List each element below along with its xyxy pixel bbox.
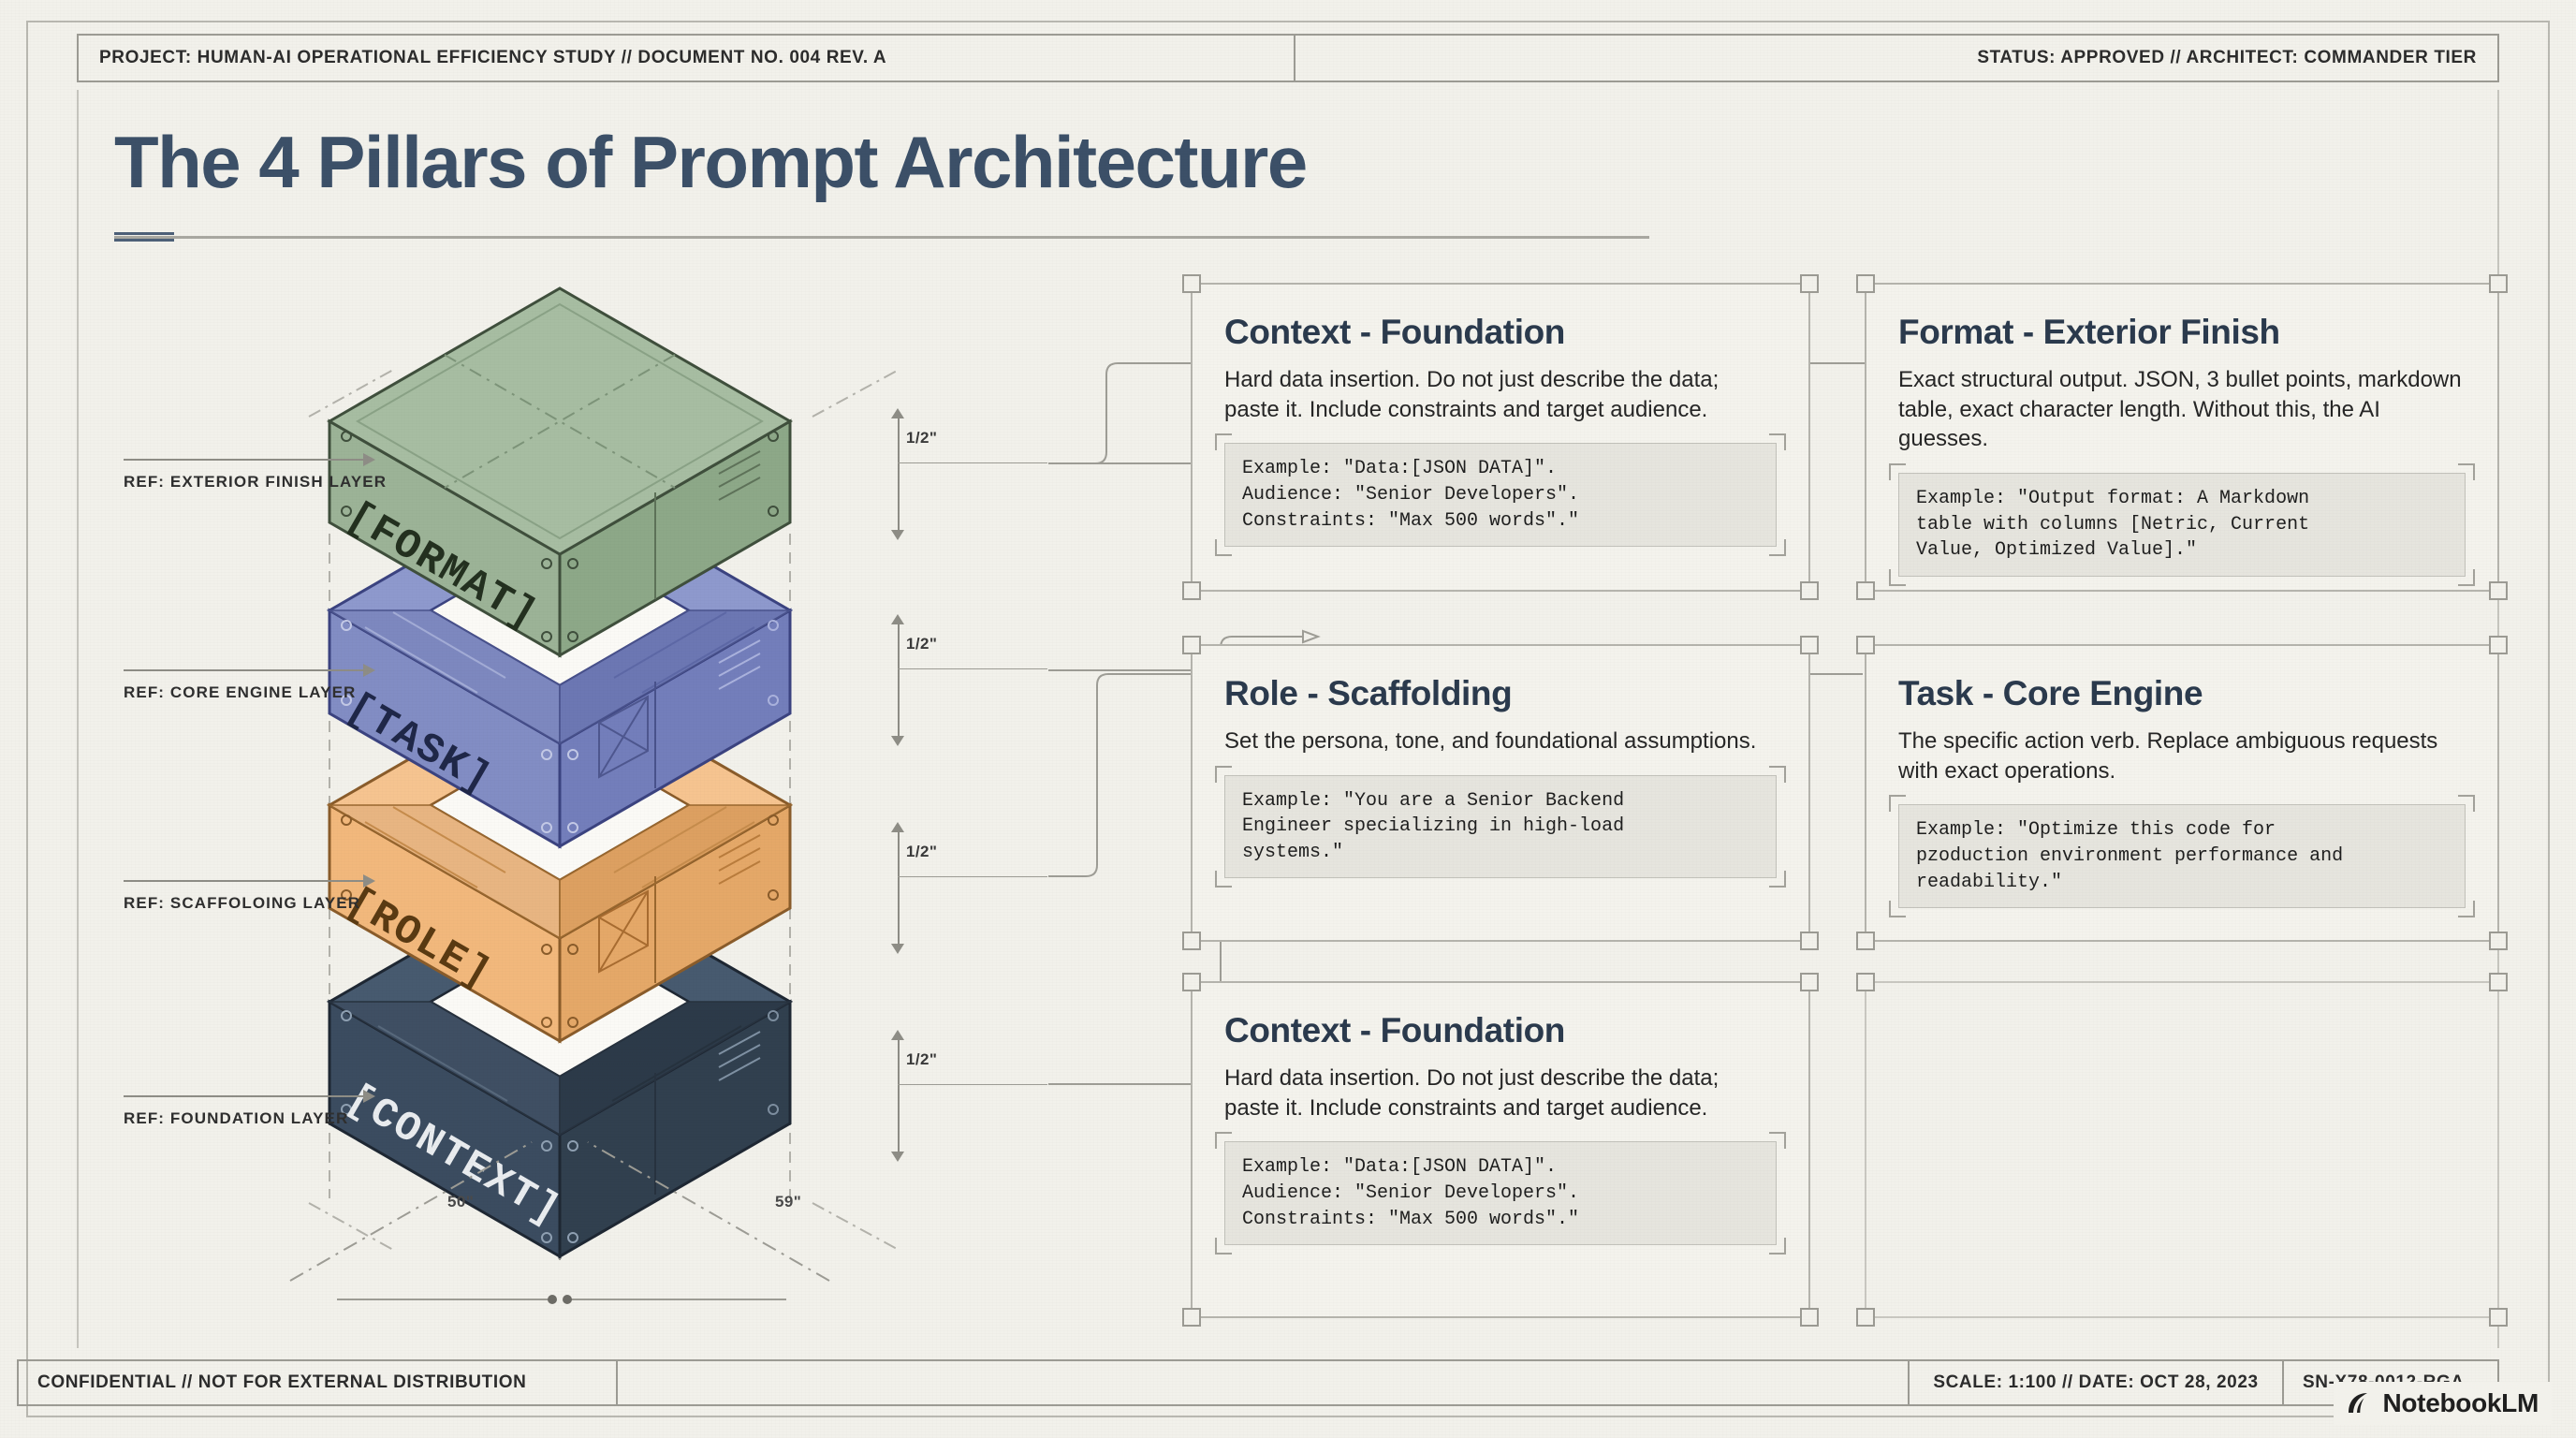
dim-ext-1 [898, 462, 1047, 463]
code-tick-bl [1889, 901, 1906, 917]
dim-line-3 [898, 828, 900, 951]
corner-marker-tl [1182, 636, 1201, 654]
ref-arrow-3 [363, 874, 375, 888]
dim-ext-3 [898, 876, 1047, 877]
corner-marker-bl [1182, 1308, 1201, 1327]
corner-marker-bl [1856, 581, 1875, 600]
code-tick-bl [1889, 569, 1906, 586]
base-dim-right: 59" [775, 1193, 801, 1211]
card-example-code: Example: "Output format: A Markdown tabl… [1898, 473, 2466, 577]
ref-leader-2 [124, 669, 365, 671]
card-context-foundation-2[interactable]: Context - Foundation Hard data insertion… [1191, 981, 1810, 1318]
code-tick-bl [1215, 871, 1232, 888]
code-tick-br [1769, 1238, 1786, 1255]
card-example-wrap: Example: "You are a Senior Backend Engin… [1224, 775, 1777, 879]
card-example-wrap: Example: "Optimize this code for pzoduct… [1898, 804, 2466, 908]
code-tick-tl [1889, 795, 1906, 812]
ref-leader-3 [124, 880, 365, 882]
card-format-exterior-finish[interactable]: Format - Exterior Finish Exact structura… [1865, 283, 2499, 592]
corner-marker-br [2489, 1308, 2508, 1327]
title-underline [114, 236, 1649, 239]
card-description: Set the persona, tone, and foundational … [1224, 726, 1777, 756]
code-tick-tr [1769, 1132, 1786, 1149]
code-tick-tl [1215, 766, 1232, 783]
corner-marker-tr [1800, 973, 1819, 991]
card-title: Context - Foundation [1224, 313, 1777, 352]
corner-marker-bl [1856, 932, 1875, 950]
ref-arrow-2 [363, 664, 375, 677]
card-description: Hard data insertion. Do not just describ… [1224, 1064, 1777, 1123]
header-status-text: STATUS: APPROVED // ARCHITECT: COMMANDER… [1295, 36, 2497, 81]
corner-marker-tl [1856, 274, 1875, 293]
dim-ext-4 [898, 1084, 1047, 1085]
title-block-header: PROJECT: HUMAN-AI OPERATIONAL EFFICIENCY… [77, 34, 2499, 82]
dim-line-2 [898, 620, 900, 743]
card-title: Context - Foundation [1224, 1011, 1777, 1050]
card-example-code: Example: "Optimize this code for pzoduct… [1898, 804, 2466, 908]
isometric-stack-svg: [CONTEXT] [281, 262, 936, 1320]
blueprint-canvas: PROJECT: HUMAN-AI OPERATIONAL EFFICIENCY… [0, 0, 2576, 1438]
corner-marker-bl [1856, 1308, 1875, 1327]
code-tick-tl [1889, 463, 1906, 480]
header-project-text: PROJECT: HUMAN-AI OPERATIONAL EFFICIENCY… [79, 36, 1295, 81]
dim-line-1 [898, 414, 900, 537]
card-example-code: Example: "Data:[JSON DATA]". Audience: "… [1224, 443, 1777, 547]
dim-label-2: 1/2" [906, 635, 937, 653]
code-tick-br [1769, 871, 1786, 888]
card-description: Hard data insertion. Do not just describ… [1224, 365, 1777, 424]
corner-marker-tr [2489, 274, 2508, 293]
footer-spacer [618, 1361, 1910, 1404]
code-tick-bl [1215, 1238, 1232, 1255]
code-tick-tl [1215, 1132, 1232, 1149]
corner-marker-br [1800, 581, 1819, 600]
code-tick-bl [1215, 539, 1232, 556]
code-tick-tr [2458, 795, 2475, 812]
code-tick-br [2458, 569, 2475, 586]
card-description: Exact structural output. JSON, 3 bullet … [1898, 365, 2466, 454]
ref-leader-4 [124, 1095, 365, 1097]
footer-confidential-text: CONFIDENTIAL // NOT FOR EXTERNAL DISTRIB… [19, 1361, 618, 1404]
card-role-scaffolding[interactable]: Role - Scaffolding Set the persona, tone… [1191, 644, 1810, 942]
title-underline-accent [114, 232, 174, 242]
dim-cap-bottom-3 [891, 944, 904, 954]
card-task-core-engine[interactable]: Task - Core Engine The specific action v… [1865, 644, 2499, 942]
dim-line-4 [898, 1035, 900, 1159]
corner-marker-tr [2489, 636, 2508, 654]
corner-marker-tl [1182, 973, 1201, 991]
corner-marker-br [2489, 932, 2508, 950]
corner-marker-tr [1800, 636, 1819, 654]
corner-marker-br [1800, 932, 1819, 950]
code-tick-tl [1215, 433, 1232, 450]
notebooklm-logo-icon [2345, 1389, 2373, 1417]
card-description: The specific action verb. Replace ambigu… [1898, 726, 2466, 785]
ref-arrow-4 [363, 1090, 375, 1103]
notebooklm-watermark-label: NotebookLM [2382, 1388, 2539, 1418]
ref-label-scaffolding: REF: SCAFFOLOING LAYER [124, 894, 360, 913]
code-tick-tr [1769, 433, 1786, 450]
ref-label-core-engine: REF: CORE ENGINE LAYER [124, 683, 356, 702]
code-tick-br [1769, 539, 1786, 556]
dim-cap-bottom-2 [891, 736, 904, 746]
corner-marker-br [2489, 581, 2508, 600]
card-example-wrap: Example: "Data:[JSON DATA]". Audience: "… [1224, 443, 1777, 547]
corner-marker-tr [1800, 274, 1819, 293]
corner-marker-tl [1856, 636, 1875, 654]
ref-label-foundation: REF: FOUNDATION LAYER [124, 1109, 348, 1128]
corner-marker-br [1800, 1308, 1819, 1327]
corner-marker-tr [2489, 973, 2508, 991]
code-tick-tr [1769, 766, 1786, 783]
card-example-wrap: Example: "Output format: A Markdown tabl… [1898, 473, 2466, 577]
card-example-code: Example: "Data:[JSON DATA]". Audience: "… [1224, 1141, 1777, 1245]
isometric-stack-diagram: [CONTEXT] [281, 262, 936, 1320]
dim-label-1: 1/2" [906, 429, 937, 448]
notebooklm-watermark: NotebookLM [2334, 1382, 2552, 1425]
card-example-wrap: Example: "Data:[JSON DATA]". Audience: "… [1224, 1141, 1777, 1245]
card-context-foundation-1[interactable]: Context - Foundation Hard data insertion… [1191, 283, 1810, 592]
dim-cap-top-3 [891, 822, 904, 832]
card-placeholder-empty [1865, 981, 2499, 1318]
dim-cap-bottom-4 [891, 1152, 904, 1162]
code-tick-br [2458, 901, 2475, 917]
card-title: Format - Exterior Finish [1898, 313, 2466, 352]
footer-scale-date-text: SCALE: 1:100 // DATE: OCT 28, 2023 [1910, 1361, 2284, 1404]
corner-marker-tl [1182, 274, 1201, 293]
dim-label-4: 1/2" [906, 1050, 937, 1069]
ref-arrow-1 [363, 453, 375, 466]
dim-ext-2 [898, 668, 1047, 669]
base-dim-left: 50" [447, 1193, 474, 1211]
dim-cap-top-1 [891, 408, 904, 418]
corner-marker-tl [1856, 973, 1875, 991]
title-block-footer: CONFIDENTIAL // NOT FOR EXTERNAL DISTRIB… [17, 1359, 2499, 1406]
dim-cap-top-2 [891, 614, 904, 624]
corner-marker-bl [1182, 932, 1201, 950]
card-title: Role - Scaffolding [1224, 674, 1777, 713]
ref-label-exterior-finish: REF: EXTERIOR FINISH LAYER [124, 473, 387, 492]
card-title: Task - Core Engine [1898, 674, 2466, 713]
page-title: The 4 Pillars of Prompt Architecture [114, 120, 1307, 205]
card-example-code: Example: "You are a Senior Backend Engin… [1224, 775, 1777, 879]
dim-cap-bottom-1 [891, 530, 904, 540]
dim-cap-top-4 [891, 1030, 904, 1040]
ref-leader-1 [124, 459, 365, 461]
dim-label-3: 1/2" [906, 843, 937, 861]
corner-marker-bl [1182, 581, 1201, 600]
code-tick-tr [2458, 463, 2475, 480]
